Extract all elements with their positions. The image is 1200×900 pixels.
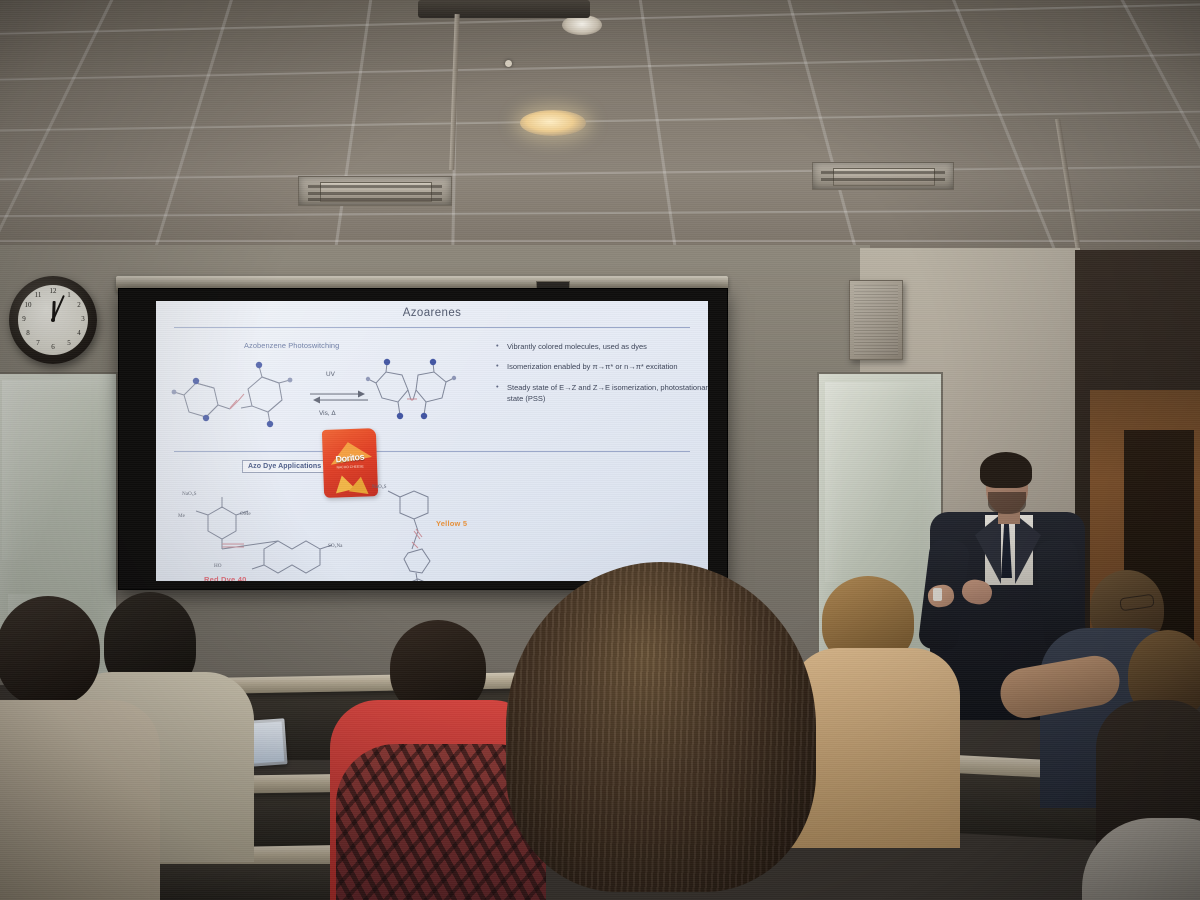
projection-screen: Azoarenes Azobenzene Photoswitching: [118, 288, 728, 590]
azo-dye-applications-label: Azo Dye Applications: [242, 460, 327, 473]
ceiling-light: [520, 110, 586, 136]
hvac-vent: [298, 176, 452, 206]
wall-clock: 12 1 2 3 4 5 6 7 8 9 10 11: [9, 276, 97, 364]
clock-hour-10: 10: [22, 302, 34, 309]
presentation-clicker[interactable]: [933, 588, 942, 601]
slide-bullet: Isomerization enabled by π→π* or n→π* ex…: [496, 362, 708, 373]
clock-face: 12 1 2 3 4 5 6 7 8 9 10 11: [18, 285, 88, 355]
clock-hour-4: 4: [73, 330, 85, 337]
dye-label-yellow-5: Yellow 5: [436, 519, 467, 528]
arrow-label-uv: UV: [326, 371, 335, 378]
student-hair: [0, 596, 100, 706]
slide-surface: Azoarenes Azobenzene Photoswitching: [156, 301, 708, 581]
arrow-label-vis: Vis, Δ: [319, 410, 336, 417]
wall-speaker: [849, 280, 903, 360]
slide-title: Azoarenes: [156, 307, 708, 319]
azobenzene-cis-structure: [370, 359, 456, 431]
clock-hour-3: 3: [77, 316, 89, 323]
classroom-photo: 12 1 2 3 4 5 6 7 8 9 10 11 Azoarenes: [0, 0, 1200, 900]
substituent-label: OMe: [240, 511, 251, 517]
azobenzene-trans-structure: [166, 361, 306, 431]
red-dye-40-structure: [186, 497, 356, 581]
doritos-bag-image: Doritos NACHO CHEESE: [322, 428, 378, 498]
presenter-beard: [988, 492, 1026, 514]
substituent-label: Me: [178, 513, 185, 519]
clock-hour-8: 8: [22, 330, 34, 337]
student-hair: [506, 562, 816, 892]
dye-label-red-40: Red Dye 40: [204, 575, 246, 581]
substituent-label: SO₃Na: [328, 543, 343, 549]
substituent-label: HO: [214, 563, 222, 569]
ceiling-light: [562, 15, 602, 35]
clock-hour-9: 9: [18, 316, 30, 323]
section-heading-photoswitching: Azobenzene Photoswitching: [244, 341, 339, 350]
slide-bullet-list: Vibrantly colored molecules, used as dye…: [456, 342, 708, 416]
substituent-label: NaO₃S: [372, 484, 387, 490]
slide-bullet: Steady state of E→Z and Z→E isomerizatio…: [496, 383, 708, 405]
clock-hour-11: 11: [32, 292, 44, 299]
student-torso: [0, 700, 160, 900]
clock-hour-2: 2: [73, 302, 85, 309]
ceiling-projector: [418, 0, 590, 18]
clock-hour-5: 5: [63, 340, 75, 347]
clock-hour-12: 12: [47, 288, 59, 295]
slide-bullet: Vibrantly colored molecules, used as dye…: [496, 342, 708, 353]
presenter-hair: [980, 452, 1032, 488]
hvac-vent: [812, 162, 954, 190]
yellow-5-structure: [378, 487, 458, 581]
equilibrium-arrows: [308, 387, 370, 409]
ceiling: [0, 0, 1200, 252]
doritos-flavor: NACHO CHEESE: [323, 464, 377, 470]
substituent-label: NaO₃S: [182, 491, 197, 497]
clock-hour-6: 6: [47, 344, 59, 351]
presentation-slide: Azoarenes Azobenzene Photoswitching: [156, 301, 708, 581]
clock-hour-7: 7: [32, 340, 44, 347]
